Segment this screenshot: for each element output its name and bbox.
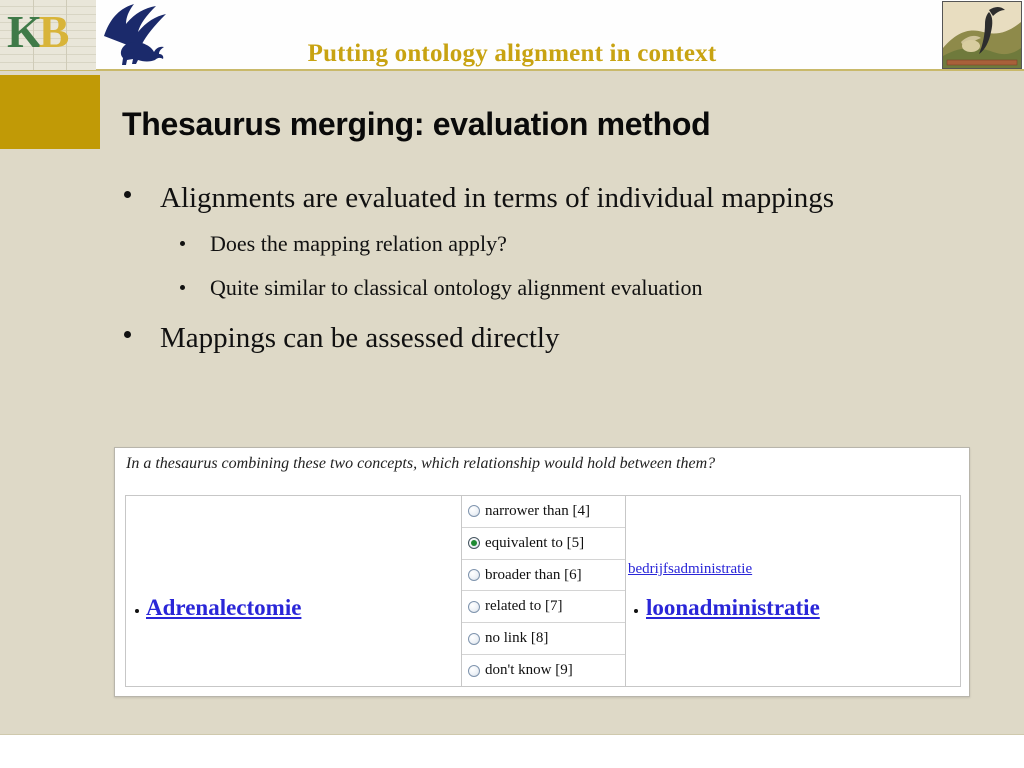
mapping-assessment-table: Adrenalectomie narrower than [4] equival… [125, 495, 961, 687]
option-narrower-than[interactable]: narrower than [4] [462, 496, 625, 528]
illuminated-manuscript-image [942, 1, 1022, 69]
bullet-dot-icon [124, 191, 131, 198]
option-equivalent-to-label: equivalent to [5] [485, 535, 584, 552]
sub-bullet-dot-icon [180, 285, 185, 290]
radio-broader-than-icon[interactable] [468, 569, 480, 581]
title-accent-square [0, 75, 100, 149]
mapping-question-text: In a thesaurus combining these two conce… [126, 455, 715, 473]
bullet-item-1: Alignments are evaluated in terms of ind… [118, 176, 968, 220]
right-concept-cell: bedrijfsadministratie loonadministratie [626, 496, 960, 686]
option-no-link[interactable]: no link [8] [462, 623, 625, 655]
relationship-options-cell: narrower than [4] equivalent to [5] broa… [462, 496, 626, 686]
option-broader-than-label: broader than [6] [485, 567, 582, 584]
left-concept-cell: Adrenalectomie [126, 496, 462, 686]
right-concept-parent-link[interactable]: bedrijfsadministratie [628, 561, 752, 578]
option-broader-than[interactable]: broader than [6] [462, 560, 625, 592]
option-related-to-label: related to [7] [485, 598, 562, 615]
right-concept-link[interactable]: loonadministratie [646, 595, 820, 621]
sub-bullet-item-2: Quite similar to classical ontology alig… [118, 266, 968, 310]
bullet-dot-icon [124, 331, 131, 338]
sub-bullet-item-1: Does the mapping relation apply? [118, 222, 968, 266]
page-title: Thesaurus merging: evaluation method [122, 106, 710, 143]
option-dont-know-label: don't know [9] [485, 662, 573, 679]
header-title: Putting ontology alignment in context [0, 40, 1024, 68]
bullet-list: Alignments are evaluated in terms of ind… [118, 176, 968, 362]
radio-no-link-icon[interactable] [468, 633, 480, 645]
option-equivalent-to[interactable]: equivalent to [5] [462, 528, 625, 560]
slide-footer-band [0, 734, 1024, 768]
evaluation-tool-screenshot: In a thesaurus combining these two conce… [114, 447, 970, 697]
bullet-item-1-label: Alignments are evaluated in terms of ind… [160, 176, 900, 220]
option-no-link-label: no link [8] [485, 630, 548, 647]
radio-related-to-icon[interactable] [468, 601, 480, 613]
bullet-item-2: Mappings can be assessed directly [118, 316, 968, 360]
radio-equivalent-to-icon[interactable] [468, 537, 480, 549]
option-dont-know[interactable]: don't know [9] [462, 655, 625, 686]
radio-narrower-than-icon[interactable] [468, 505, 480, 517]
left-concept-link[interactable]: Adrenalectomie [146, 595, 301, 621]
right-concept-bullet-icon [634, 609, 638, 613]
left-concept-bullet-icon [135, 609, 139, 613]
option-narrower-than-label: narrower than [4] [485, 503, 590, 520]
bullet-item-2-label: Mappings can be assessed directly [160, 316, 900, 360]
presentation-slide: KB Putting ontology alignment in context [0, 0, 1024, 768]
sub-bullet-item-1-label: Does the mapping relation apply? [210, 231, 507, 256]
sub-bullet-dot-icon [180, 241, 185, 246]
sub-bullet-item-2-label: Quite similar to classical ontology alig… [210, 275, 702, 300]
option-related-to[interactable]: related to [7] [462, 591, 625, 623]
radio-dont-know-icon[interactable] [468, 665, 480, 677]
